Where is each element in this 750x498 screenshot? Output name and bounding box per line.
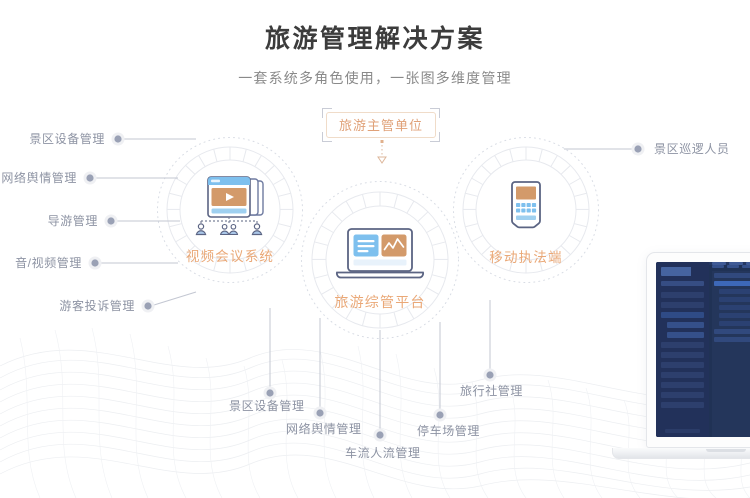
leaf-bottom-2[interactable]: 网络舆情管理: [286, 423, 362, 435]
dashboard-menu-item[interactable]: [661, 402, 704, 408]
leaf-left-4[interactable]: 音/视频管理: [0, 257, 82, 269]
handheld-device-icon: [466, 180, 586, 241]
dashboard-sidebar-footer: [665, 429, 700, 433]
dashboard-tree-node[interactable]: [719, 297, 750, 302]
badge-label: 旅游主管单位: [339, 119, 423, 132]
page-title: 旅游管理解决方案: [0, 22, 750, 56]
dashboard-body: [709, 268, 750, 437]
dashboard-menu-item[interactable]: [661, 342, 704, 348]
dashboard-tree-node[interactable]: [719, 313, 750, 318]
leaf-right-1[interactable]: 景区巡逻人员: [654, 143, 730, 155]
dashboard-menu-item[interactable]: [661, 352, 704, 358]
leaf-bottom-4[interactable]: 停车场管理: [417, 425, 480, 437]
dashboard-tree-node[interactable]: [719, 305, 750, 310]
dashboard-menu-item[interactable]: [667, 332, 704, 338]
dashboard-menu-item[interactable]: [661, 292, 704, 298]
dashboard-tree-node[interactable]: [714, 329, 750, 334]
page-subtitle: 一套系统多角色使用，一张图多维度管理: [0, 68, 750, 88]
dashboard-subtitle-bar: [661, 281, 704, 286]
leaf-bottom-1[interactable]: 景区设备管理: [229, 400, 305, 412]
dashboard-menu-item[interactable]: [661, 392, 704, 398]
dashboard-tree-node[interactable]: [719, 289, 750, 294]
dashboard-menu-item[interactable]: [667, 322, 704, 328]
node-tourism-platform[interactable]: 旅游综管平台: [320, 228, 440, 309]
laptop-lid: [646, 252, 750, 448]
laptop-dashboard-icon: [320, 228, 440, 285]
dashboard-menu-item[interactable]: [661, 382, 704, 388]
laptop-base: [612, 448, 750, 459]
dashboard-tree-panel: [712, 271, 750, 437]
dashboard-menu-item[interactable]: [661, 302, 704, 308]
dotted-down-arrow-icon: [376, 140, 388, 166]
dashboard-menu-item[interactable]: [661, 372, 704, 378]
dashboard-tree-node[interactable]: [714, 337, 750, 342]
laptop-notch: [706, 449, 746, 452]
dashboard-menu-item[interactable]: [661, 312, 704, 318]
node-label-mobile-enforcement: 移动执法端: [466, 251, 586, 265]
dashboard-tree-node[interactable]: [714, 273, 750, 278]
solution-diagram-page: 旅游管理解决方案 一套系统多角色使用，一张图多维度管理: [0, 0, 750, 498]
dashboard-sidebar: [656, 262, 709, 437]
leaf-left-5[interactable]: 游客投诉管理: [0, 300, 135, 312]
leaf-bottom-5[interactable]: 旅行社管理: [460, 385, 523, 397]
dashboard-main: [709, 262, 750, 437]
leaf-bottom-3[interactable]: 车流人流管理: [345, 447, 421, 459]
leaf-left-2[interactable]: 网络舆情管理: [0, 172, 77, 184]
badge-supervising-authority[interactable]: 旅游主管单位: [326, 112, 436, 138]
node-label-video-conference: 视频会议系统: [170, 250, 290, 264]
dashboard-tree-node[interactable]: [719, 321, 750, 326]
node-video-conference[interactable]: 视频会议系统: [170, 176, 290, 264]
dashboard-tree-node[interactable]: [714, 281, 750, 286]
badge-box: 旅游主管单位: [326, 112, 436, 138]
dashboard-logo: [661, 267, 704, 276]
dashboard-menu-item[interactable]: [661, 362, 704, 368]
node-mobile-enforcement[interactable]: 移动执法端: [466, 180, 586, 265]
video-conference-icon: [170, 176, 290, 241]
page-header: 旅游管理解决方案 一套系统多角色使用，一张图多维度管理: [0, 22, 750, 88]
leaf-left-1[interactable]: 景区设备管理: [0, 133, 105, 145]
leaf-left-3[interactable]: 导游管理: [0, 215, 98, 227]
node-label-tourism-platform: 旅游综管平台: [320, 295, 440, 309]
dashboard-screen: [656, 262, 750, 437]
